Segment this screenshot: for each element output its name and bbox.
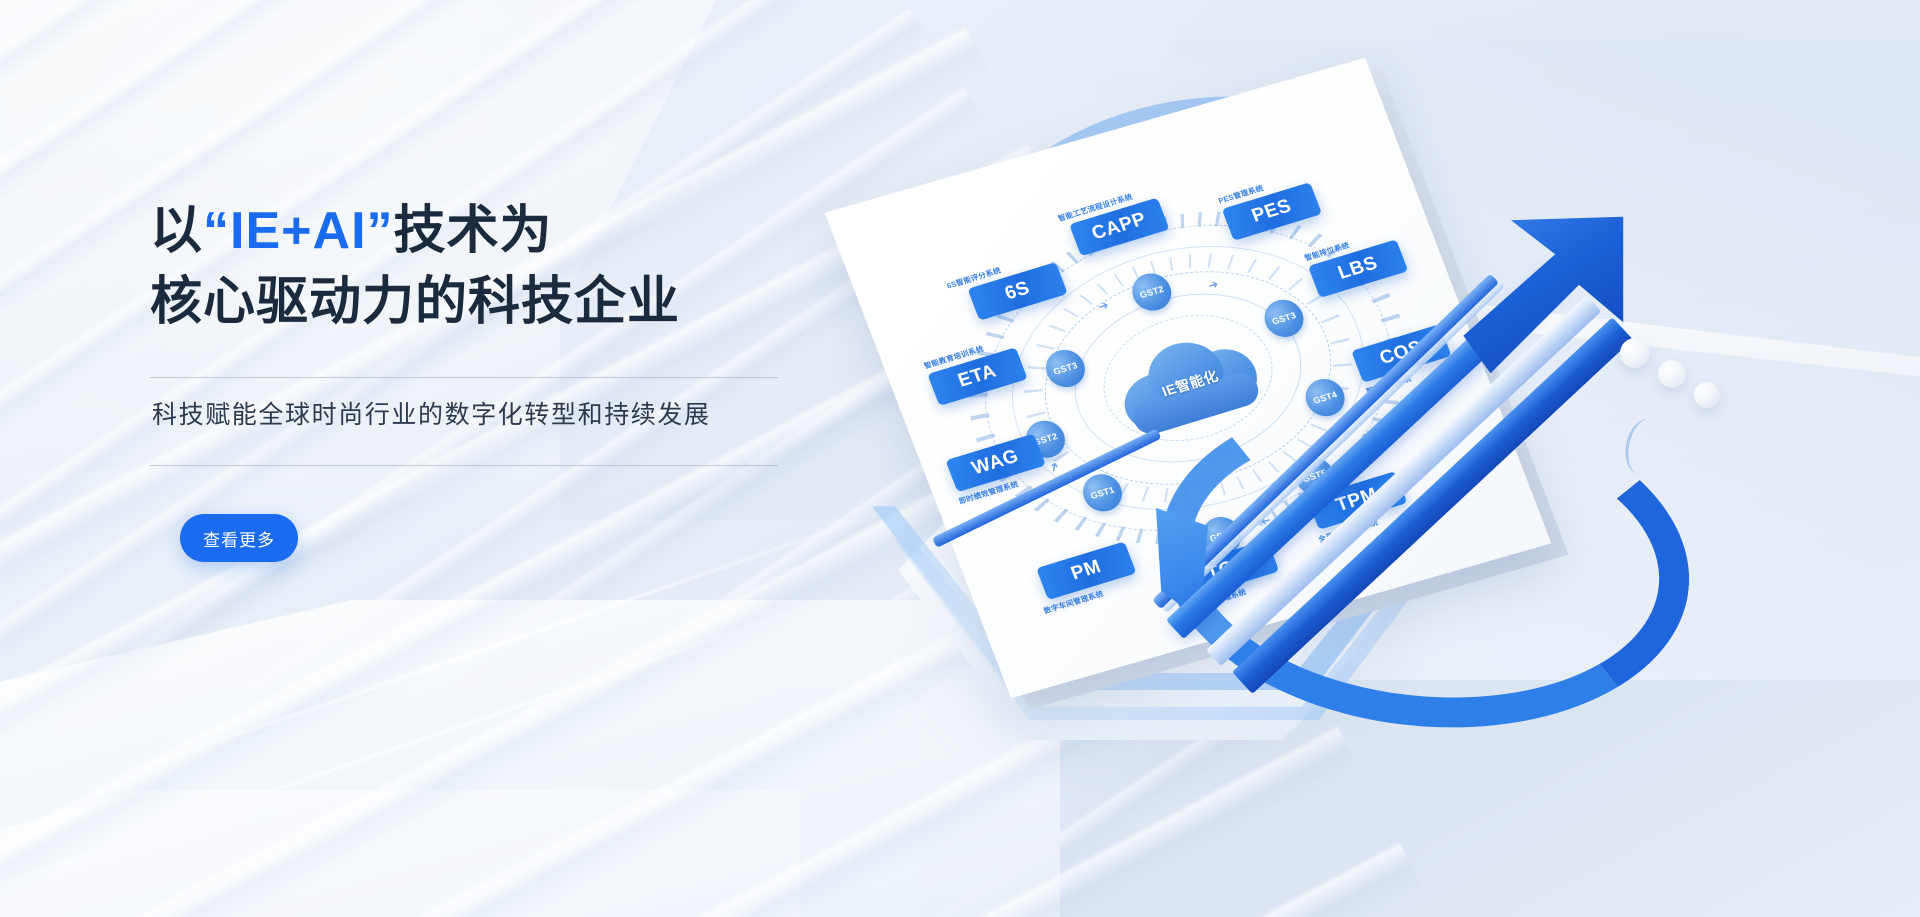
headline-accent: IE+AI bbox=[230, 202, 367, 260]
module-tag-pm[interactable]: PM bbox=[1036, 541, 1136, 600]
decor-sphere-3 bbox=[1694, 382, 1720, 408]
headline-quote-open: “ bbox=[203, 202, 230, 260]
hero-illustration: IE智能化 GST1 GST2 GST3 GST4 GST5 GST6 GST2… bbox=[860, 60, 1920, 917]
headline-suffix: 技术为 bbox=[394, 202, 553, 260]
subtitle-divider-top bbox=[150, 377, 778, 378]
decor-sphere-2 bbox=[1658, 360, 1686, 388]
hero-copy: 以“IE+AI”技术为 核心驱动力的科技企业 科技赋能全球时尚行业的数字化转型和… bbox=[150, 196, 850, 562]
hero-banner: 以“IE+AI”技术为 核心驱动力的科技企业 科技赋能全球时尚行业的数字化转型和… bbox=[0, 0, 1920, 917]
headline-quote-close: ” bbox=[367, 202, 394, 260]
headline-prefix: 以 bbox=[150, 202, 203, 260]
page-title: 以“IE+AI”技术为 核心驱动力的科技企业 bbox=[150, 196, 850, 337]
subtitle-divider-bottom bbox=[150, 465, 778, 466]
headline-line-2: 核心驱动力的科技企业 bbox=[150, 273, 680, 331]
decor-sphere-1 bbox=[1620, 338, 1650, 368]
view-more-button[interactable]: 查看更多 bbox=[180, 514, 298, 562]
hero-subtitle: 科技赋能全球时尚行业的数字化转型和持续发展 bbox=[150, 378, 850, 431]
